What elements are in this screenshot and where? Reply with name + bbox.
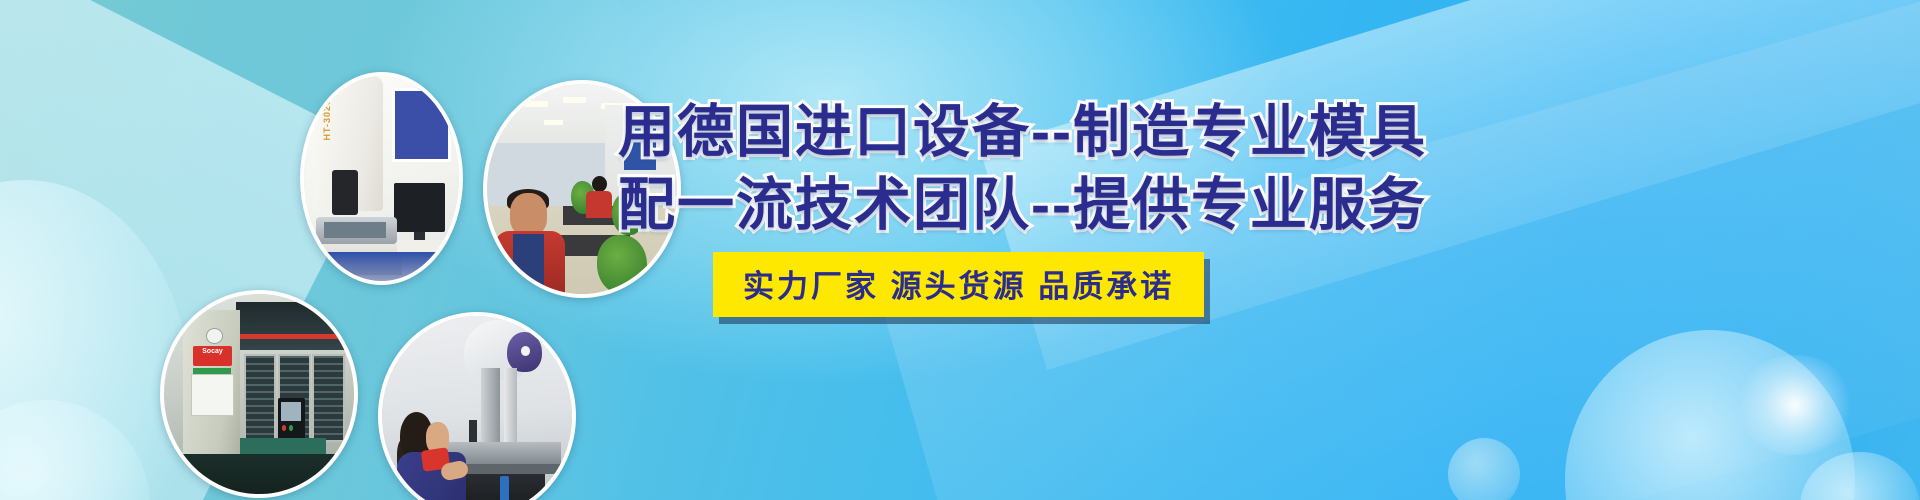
photo4-cmm-column-right [504,368,517,444]
tagline-strip-wrapper: 实力厂家 源头货源 品质承诺 [713,252,1204,317]
headline-line-2: 配一流技术团队--提供专业服务 [618,169,1358,242]
photo3-machine-base [164,454,354,494]
machine-model-label: HT-3020 [322,99,332,141]
photo3-window-1 [244,354,277,442]
promo-banner: HT-3020 [0,0,1920,500]
photo4-cmm-column-left [481,368,500,444]
photo3-gauge-icon [206,328,223,344]
photo3-control-panel [278,398,305,442]
headline-block: 用德国进口设备--制造专业模具 配一流技术团队--提供专业服务 [618,96,1358,242]
photo3-window-3 [312,354,345,442]
photo2-ceiling-light-4 [544,120,563,125]
photo-optical-measuring-machine: HT-3020 [300,72,463,285]
photo1-glass-plate [324,222,386,238]
lens-flare [1735,355,1855,455]
machine-brand-label: Socay [193,346,233,357]
photo2-ceiling-light-2 [563,97,586,103]
photo-cmm-inspection-operator [378,312,576,500]
photo4-operator [397,412,469,500]
photo-collage: HT-3020 [0,0,620,500]
tagline-strip: 实力厂家 源头货源 品质承诺 [713,252,1204,317]
photo1-wall-poster [392,88,451,162]
photo1-monitor [394,183,445,232]
photo2-background-worker [586,176,613,218]
photo4-knob-dot [521,346,531,356]
photo3-red-stripe [240,334,350,339]
photo-cnc-machining-center: Socay [160,290,358,498]
photo3-paper-notice [191,374,235,416]
photo3-brand-plate: Socay [193,346,233,366]
decorative-bubble-right-small [1448,438,1520,500]
photo1-optical-head [332,170,358,215]
photo4-air-hose [500,476,510,500]
photo2-foreground-worker [495,193,565,294]
photo3-machine-top [236,302,354,350]
photo2-plant-3 [597,235,646,294]
photo1-blue-desk [304,252,459,281]
headline-line-1: 用德国进口设备--制造专业模具 [618,96,1358,169]
photo2-ceiling-light-1 [525,101,548,107]
